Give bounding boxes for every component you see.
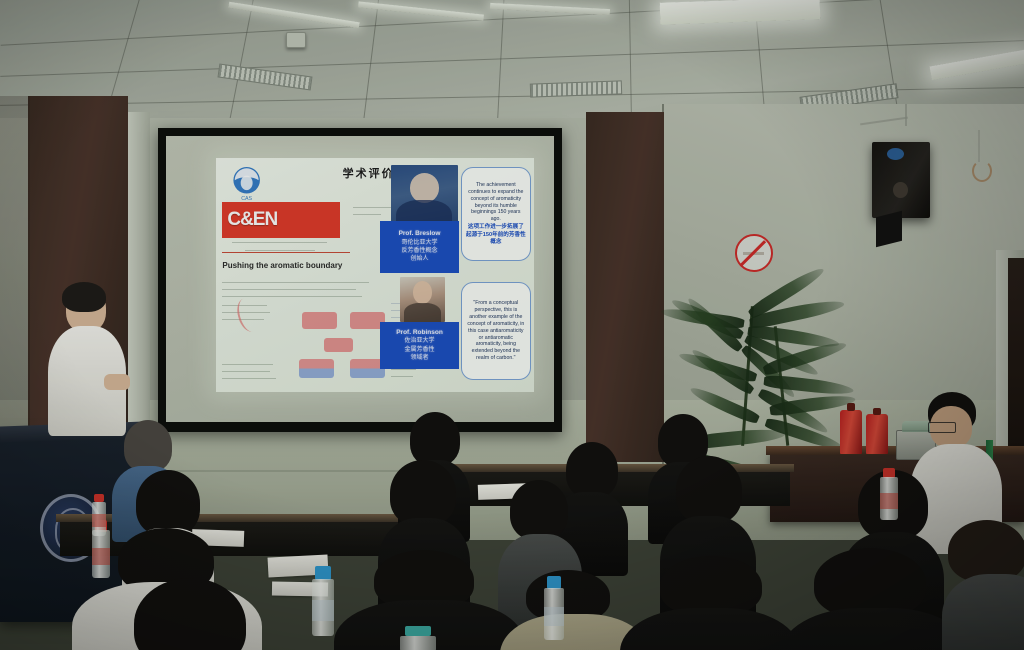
bottle-label	[92, 548, 110, 565]
bottle-label	[880, 493, 898, 509]
breslow-role2: 创始人	[411, 255, 429, 263]
presenter	[44, 282, 140, 442]
breslow-name: Prof. Breslow	[399, 230, 441, 239]
molecule-structure	[302, 312, 337, 328]
smoke-detector	[286, 32, 306, 48]
presentation-slide: CAS 学术评价 C&EN Pushing the aromatic bound…	[216, 158, 534, 392]
attendee	[942, 520, 1024, 650]
water-bottle-blue-cap	[312, 566, 334, 636]
article-headline: Pushing the aromatic boundary	[222, 261, 375, 270]
water-bottle-teal-cap	[400, 626, 436, 650]
water-bottle-red-cap	[880, 468, 898, 520]
robinson-portrait	[400, 277, 445, 321]
presenter-arm	[104, 374, 130, 390]
callout-robinson: "From a conceptual perspective, this is …	[461, 282, 531, 380]
robinson-name-tag: Prof. Robinson 佐治亚大学 金属芳香性 领域者	[380, 322, 460, 369]
attendee-hair	[948, 520, 1024, 582]
presenter-hair	[62, 282, 106, 312]
attendee-hair	[660, 556, 762, 616]
callout-robinson-quote-en: "From a conceptual perspective, this is …	[466, 300, 526, 362]
speaker-brand-badge	[887, 148, 904, 160]
projection-screen: CAS 学术评价 C&EN Pushing the aromatic bound…	[166, 136, 554, 422]
breslow-affiliation: 哥伦比亚大学	[402, 239, 438, 247]
reaction-arrow-icon	[234, 296, 263, 334]
attendee-hair	[410, 412, 460, 466]
robinson-role2: 领域者	[411, 354, 429, 362]
attendee-shirt	[620, 608, 800, 650]
attendee	[104, 578, 274, 650]
attendee-hair	[676, 456, 742, 524]
lecture-hall-photo: CAS 学术评价 C&EN Pushing the aromatic bound…	[0, 0, 1024, 650]
callout-breslow-quote-cn: 这项工作进一步拓展了起源于150年前的芳香性概念	[466, 224, 526, 246]
attendee-hair	[136, 470, 200, 536]
ceiling-light-panel	[490, 3, 610, 15]
doorway-shadow	[0, 96, 30, 436]
attendee-hair	[390, 460, 456, 526]
ceiling-light-panel	[930, 50, 1024, 80]
ceiling-light-panel	[660, 0, 821, 25]
svg-text:CAS: CAS	[241, 196, 252, 202]
attendee-hair	[510, 480, 568, 540]
article-rule	[222, 252, 349, 254]
cen-logo-badge: C&EN	[222, 202, 340, 237]
robinson-name: Prof. Robinson	[396, 329, 443, 338]
bottle-cap	[547, 576, 561, 589]
eyeglasses-icon	[928, 422, 956, 433]
callout-breslow-quote-en: The achievement continues to expand the …	[466, 182, 526, 223]
attendee-hair	[134, 578, 246, 650]
breslow-role: 反芳香性概念	[402, 247, 438, 255]
wall-speaker	[872, 142, 930, 218]
bottle-label	[544, 607, 564, 626]
callout-breslow: The achievement continues to expand the …	[461, 167, 531, 261]
fire-extinguisher	[866, 414, 888, 454]
bottle-cap	[405, 626, 431, 636]
molecule-structure	[324, 338, 353, 352]
attendee	[620, 556, 800, 650]
bottle-cap	[315, 566, 331, 580]
breslow-name-tag: Prof. Breslow 哥伦比亚大学 反芳香性概念 创始人	[380, 221, 460, 272]
wall-hook	[972, 160, 992, 182]
fire-extinguisher	[840, 410, 862, 454]
nsfc-logo-icon: CAS	[226, 163, 267, 203]
speaker-cone	[893, 182, 908, 199]
bottle-label	[92, 514, 106, 527]
bottle-label	[312, 600, 334, 621]
wall-column-right	[586, 112, 664, 462]
robinson-affiliation: 佐治亚大学	[405, 337, 435, 345]
water-bottle-red-cap	[92, 494, 106, 536]
molecule-structure	[299, 359, 334, 378]
attendee-shirt	[942, 574, 1024, 650]
attendee-hair	[124, 420, 172, 472]
water-bottle-blue-cap	[544, 576, 564, 640]
robinson-role: 金属芳香性	[405, 346, 435, 354]
